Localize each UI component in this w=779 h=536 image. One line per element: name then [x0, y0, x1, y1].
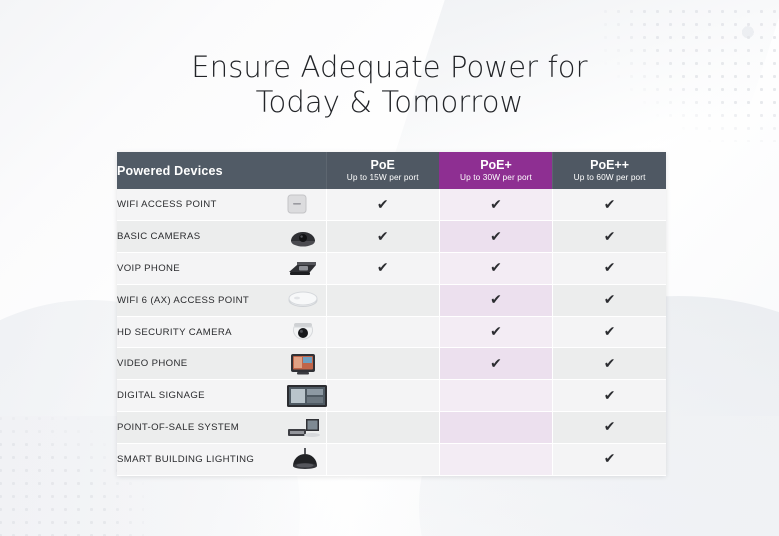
device-cell: VIDEO PHONE — [117, 348, 326, 380]
poe-plus-plus-cell: ✔ — [553, 253, 666, 285]
voip-phone-icon — [286, 256, 320, 280]
check-icon: ✔ — [604, 261, 616, 275]
poe-cell: ✔ — [326, 189, 439, 221]
device-label: WIFI ACCESS POINT — [117, 199, 217, 210]
device-label: VOIP PHONE — [117, 263, 180, 274]
check-icon: ✔ — [604, 357, 616, 371]
column-header-poe-plus-name: PoE+ — [440, 158, 552, 172]
device-cell: VOIP PHONE — [117, 253, 326, 285]
table-row: DIGITAL SIGNAGE✔ — [117, 380, 666, 412]
column-header-poe-name: PoE — [327, 158, 439, 172]
dome-camera-icon — [286, 225, 320, 249]
poe-cell — [326, 412, 439, 444]
check-icon: ✔ — [604, 389, 616, 403]
poe-plus-plus-cell: ✔ — [553, 189, 666, 221]
device-label: VIDEO PHONE — [117, 358, 188, 369]
wifi6-access-point-icon — [286, 288, 320, 312]
table-header: Powered Devices PoE Up to 15W per port P… — [117, 152, 666, 189]
check-icon: ✔ — [604, 230, 616, 244]
poe-cell — [326, 443, 439, 475]
poe-plus-plus-cell: ✔ — [553, 443, 666, 475]
page-title-line2: Today & Tomorrow — [0, 85, 779, 120]
check-icon: ✔ — [604, 420, 616, 434]
poe-plus-cell: ✔ — [439, 348, 552, 380]
check-icon: ✔ — [490, 357, 502, 371]
check-icon: ✔ — [604, 198, 616, 212]
high-bay-light-icon — [286, 447, 320, 471]
device-label: WIFI 6 (AX) ACCESS POINT — [117, 295, 249, 306]
device-label: HD SECURITY CAMERA — [117, 327, 232, 338]
pos-system-icon — [286, 415, 320, 439]
device-cell: WIFI 6 (AX) ACCESS POINT — [117, 284, 326, 316]
device-cell: BASIC CAMERAS — [117, 221, 326, 253]
poe-plus-cell: ✔ — [439, 284, 552, 316]
check-icon: ✔ — [490, 325, 502, 339]
device-cell: WIFI ACCESS POINT — [117, 189, 326, 221]
video-phone-icon — [286, 352, 320, 376]
poe-plus-plus-cell: ✔ — [553, 221, 666, 253]
table-row: POINT-OF-SALE SYSTEM✔ — [117, 412, 666, 444]
check-icon: ✔ — [377, 261, 389, 275]
column-header-poe: PoE Up to 15W per port — [326, 152, 439, 189]
poe-plus-plus-cell: ✔ — [553, 316, 666, 348]
device-label: SMART BUILDING LIGHTING — [117, 454, 254, 465]
power-matrix-table: Powered Devices PoE Up to 15W per port P… — [117, 152, 666, 476]
poe-plus-plus-cell: ✔ — [553, 348, 666, 380]
poe-plus-cell: ✔ — [439, 316, 552, 348]
poe-plus-plus-cell: ✔ — [553, 284, 666, 316]
column-header-poe-plus-plus: PoE++ Up to 60W per port — [553, 152, 666, 189]
column-header-poe-plus-plus-sub: Up to 60W per port — [553, 172, 666, 183]
poe-plus-cell — [439, 443, 552, 475]
poe-cell — [326, 284, 439, 316]
column-header-poe-plus: PoE+ Up to 30W per port — [439, 152, 552, 189]
check-icon: ✔ — [377, 198, 389, 212]
check-icon: ✔ — [490, 230, 502, 244]
device-cell: POINT-OF-SALE SYSTEM — [117, 412, 326, 444]
check-icon: ✔ — [377, 230, 389, 244]
column-header-poe-plus-plus-name: PoE++ — [553, 158, 666, 172]
column-header-poe-sub: Up to 15W per port — [327, 172, 439, 183]
check-icon: ✔ — [490, 261, 502, 275]
poe-cell — [326, 380, 439, 412]
poe-cell — [326, 316, 439, 348]
check-icon: ✔ — [490, 293, 502, 307]
table-row: WIFI ACCESS POINT✔✔✔ — [117, 189, 666, 221]
column-header-poe-plus-sub: Up to 30W per port — [440, 172, 552, 183]
table-row: HD SECURITY CAMERA✔✔ — [117, 316, 666, 348]
table-body: WIFI ACCESS POINT✔✔✔BASIC CAMERAS✔✔✔VOIP… — [117, 189, 666, 475]
table-row: VOIP PHONE✔✔✔ — [117, 253, 666, 285]
page-title: Ensure Adequate Power for Today & Tomorr… — [0, 50, 779, 120]
device-cell: DIGITAL SIGNAGE — [117, 380, 326, 412]
device-label: BASIC CAMERAS — [117, 231, 200, 242]
column-header-powered-devices: Powered Devices — [117, 152, 326, 189]
table-row: BASIC CAMERAS✔✔✔ — [117, 221, 666, 253]
slide-canvas: Ensure Adequate Power for Today & Tomorr… — [0, 0, 779, 536]
poe-plus-plus-cell: ✔ — [553, 412, 666, 444]
table-row: VIDEO PHONE✔✔ — [117, 348, 666, 380]
poe-plus-plus-cell: ✔ — [553, 380, 666, 412]
poe-cell: ✔ — [326, 253, 439, 285]
poe-plus-cell — [439, 380, 552, 412]
table-row: WIFI 6 (AX) ACCESS POINT✔✔ — [117, 284, 666, 316]
wifi-access-point-icon — [286, 193, 320, 217]
ptz-camera-icon — [286, 320, 320, 344]
check-icon: ✔ — [604, 325, 616, 339]
table-row: SMART BUILDING LIGHTING✔ — [117, 443, 666, 475]
check-icon: ✔ — [490, 198, 502, 212]
poe-cell: ✔ — [326, 221, 439, 253]
poe-plus-cell: ✔ — [439, 221, 552, 253]
device-cell: SMART BUILDING LIGHTING — [117, 443, 326, 475]
poe-plus-cell — [439, 412, 552, 444]
device-label: POINT-OF-SALE SYSTEM — [117, 422, 239, 433]
poe-plus-cell: ✔ — [439, 189, 552, 221]
device-label: DIGITAL SIGNAGE — [117, 390, 205, 401]
device-cell: HD SECURITY CAMERA — [117, 316, 326, 348]
check-icon: ✔ — [604, 452, 616, 466]
page-title-line1: Ensure Adequate Power for — [191, 50, 587, 84]
poe-plus-cell: ✔ — [439, 253, 552, 285]
poe-cell — [326, 348, 439, 380]
check-icon: ✔ — [604, 293, 616, 307]
digital-signage-icon — [286, 384, 320, 408]
